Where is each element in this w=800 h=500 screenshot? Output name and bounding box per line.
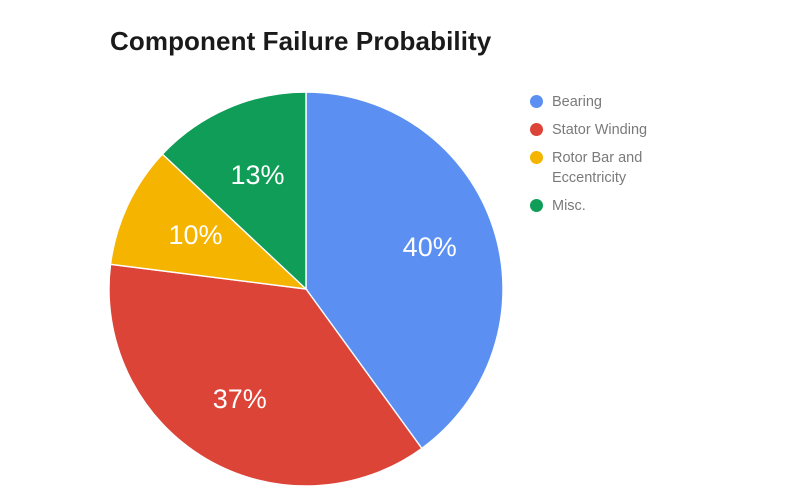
legend-color-swatch-icon [530,123,543,136]
pie-slices [109,92,503,486]
pie-slice-value-label: 13% [230,160,284,190]
chart-title: Component Failure Probability [110,26,491,57]
legend-item-label: Stator Winding [552,120,647,140]
legend-item-label: Bearing [552,92,602,112]
legend-item[interactable]: Stator Winding [530,120,730,140]
pie-plot-area: 40%37%10%13% [107,90,505,488]
pie-chart-figure: Component Failure Probability 40%37%10%1… [0,0,800,500]
pie-slice-value-label: 10% [168,220,222,250]
pie-svg: 40%37%10%13% [107,90,505,488]
pie-slice-value-label: 40% [403,232,457,262]
legend-item-label: Misc. [552,196,586,216]
legend-item[interactable]: Rotor Bar and Eccentricity [530,148,730,188]
legend-item[interactable]: Bearing [530,92,730,112]
legend-color-swatch-icon [530,199,543,212]
legend-item[interactable]: Misc. [530,196,730,216]
pie-slice-value-label: 37% [213,384,267,414]
legend-color-swatch-icon [530,95,543,108]
legend-item-label: Rotor Bar and Eccentricity [552,148,687,188]
chart-legend: BearingStator WindingRotor Bar and Eccen… [530,92,730,224]
legend-color-swatch-icon [530,151,543,164]
